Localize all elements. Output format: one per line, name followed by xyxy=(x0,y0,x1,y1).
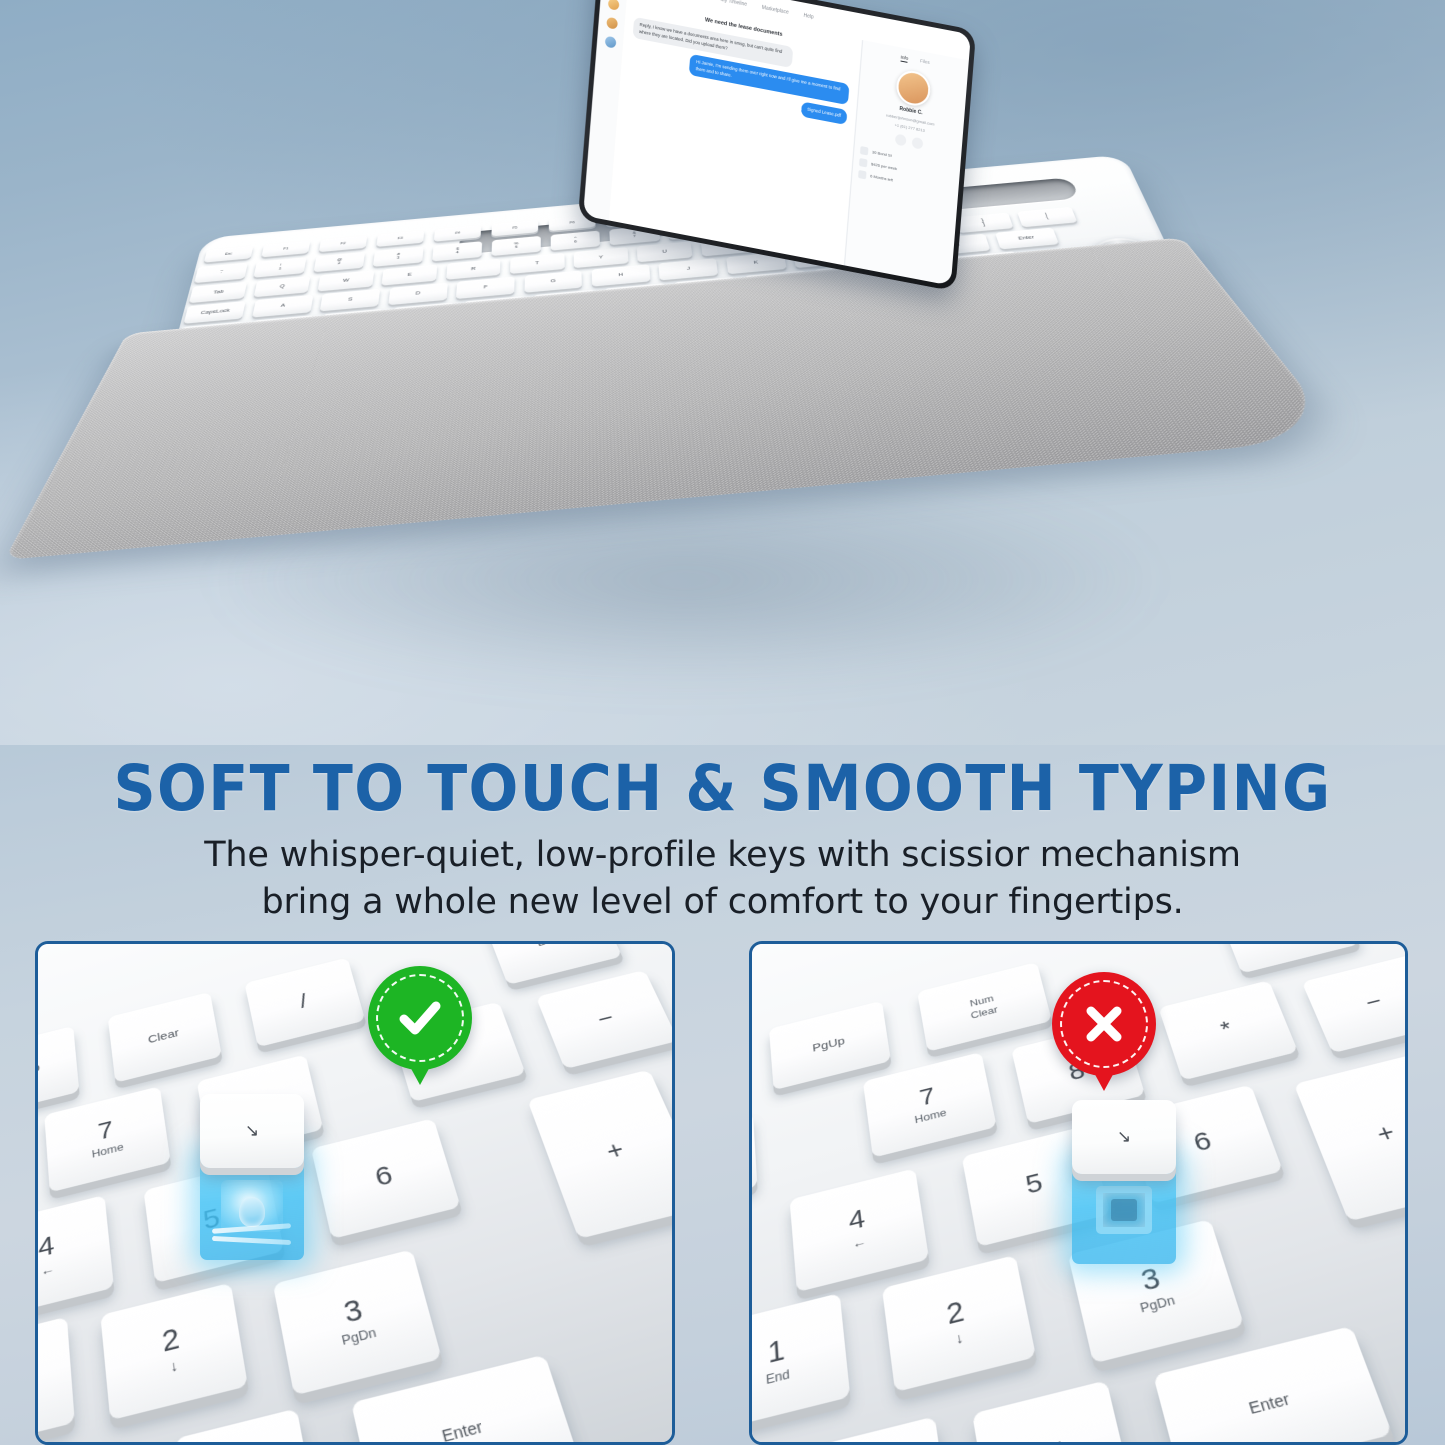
avatar[interactable] xyxy=(606,17,618,30)
keyboard-key[interactable]: F5 xyxy=(491,220,538,237)
keyboard-key[interactable]: ~ ` xyxy=(194,262,247,283)
calendar-icon xyxy=(858,170,867,179)
key-7-home[interactable]: 7 Home xyxy=(863,1052,997,1157)
page-subtitle: The whisper-quiet, low-profile keys with… xyxy=(0,832,1445,926)
key-pgup[interactable]: PgUp xyxy=(38,1026,80,1118)
subtitle-line-2: bring a whole new level of comfort to yo… xyxy=(0,879,1445,926)
keyboard-key[interactable]: F xyxy=(456,277,515,299)
keyboard-key[interactable]: F1 xyxy=(261,240,311,257)
key-del[interactable]: Del xyxy=(972,1381,1133,1442)
keyboard-key[interactable]: G xyxy=(524,271,582,293)
keyboard-key[interactable]: % 5 xyxy=(491,236,541,257)
key-clear[interactable]: Clear xyxy=(108,992,223,1083)
contact-actions xyxy=(894,133,923,149)
key-6[interactable]: 6 xyxy=(312,1118,462,1239)
key-back[interactable]: ← Back xyxy=(1219,944,1358,973)
keyboard-key[interactable]: F2 xyxy=(318,235,367,252)
keyboard-key[interactable]: Q xyxy=(253,276,310,298)
phone-contact-panel: Info Files Robbie C. robbertjohnson@gmai… xyxy=(844,40,969,286)
key-2[interactable]: 2 ↓ xyxy=(881,1255,1035,1392)
phone-nav-item[interactable]: Marketplace xyxy=(762,5,789,16)
phone-nav-item[interactable]: Help xyxy=(803,13,814,21)
detail-text: 6 Months left xyxy=(870,173,893,183)
key-7-home[interactable]: 7 Home xyxy=(45,1086,171,1193)
keyboard-key[interactable]: Tab xyxy=(189,281,247,303)
keyboard-key[interactable]: E xyxy=(382,264,438,286)
phone-nav-item[interactable]: My Timeline xyxy=(720,0,747,8)
keyboard-key[interactable]: R xyxy=(446,258,501,279)
lifted-keycap[interactable]: ↘ xyxy=(200,1094,304,1168)
money-icon xyxy=(859,158,868,167)
keyboard-key[interactable]: ! 1 xyxy=(254,257,307,278)
keyboard-key[interactable]: Enter xyxy=(995,228,1059,250)
key-plus[interactable]: + xyxy=(1294,1053,1405,1221)
keyboard-key[interactable]: F3 xyxy=(376,230,424,247)
keyboard-key[interactable]: | \ xyxy=(1017,207,1077,228)
contact-detail-list: 30 Bond St $426 per week 6 Months left xyxy=(858,146,954,196)
keyboard-closeup-good: PgUp Clear / Back 7 Home 8 * − 4 ← 5 xyxy=(38,944,672,1442)
comparison-panel-scissor: PgUp Clear / Back 7 Home 8 * − 4 ← 5 xyxy=(35,941,675,1445)
keyboard-closeup-bad: PgUp Num Clear ← Back PgDn 7 Home 8 * − … xyxy=(752,944,1405,1442)
key-3-pgdn[interactable]: 3 PgDn xyxy=(273,1249,442,1395)
keyboard-key[interactable]: W xyxy=(317,270,374,292)
scissor-arm xyxy=(212,1236,291,1245)
detail-text: $426 per week xyxy=(871,162,897,172)
home-icon xyxy=(860,146,869,155)
key-plus[interactable]: + xyxy=(527,1070,672,1239)
key-slash[interactable]: / xyxy=(245,958,366,1047)
cross-icon xyxy=(1052,972,1156,1076)
keyboard-key[interactable]: D xyxy=(388,283,447,305)
key-period[interactable]: . xyxy=(175,1409,319,1442)
detail-text: 30 Bond St xyxy=(872,150,892,159)
keyboard-key[interactable]: $ 4 xyxy=(432,241,483,262)
keyboard-key[interactable]: F4 xyxy=(434,225,482,242)
keyboard-key[interactable]: H xyxy=(592,264,651,286)
membrane-plunger-hole xyxy=(1111,1199,1137,1221)
chat-bubble-attachment[interactable]: Signed Lease.pdf xyxy=(801,102,848,125)
keyboard-key[interactable]: @ 2 xyxy=(313,252,365,273)
key-minus[interactable]: − xyxy=(536,970,672,1070)
key-num-clear[interactable]: Num Clear xyxy=(916,963,1051,1052)
key-1-end[interactable]: 1 End xyxy=(38,1317,76,1442)
rubber-dome xyxy=(239,1197,265,1227)
key-ins[interactable]: Ins xyxy=(783,1417,952,1442)
key-1-end[interactable]: 1 End xyxy=(752,1293,850,1432)
subtitle-line-1: The whisper-quiet, low-profile keys with… xyxy=(0,832,1445,879)
key-minus[interactable]: − xyxy=(1302,954,1405,1053)
keyboard-key[interactable]: S xyxy=(320,289,380,311)
phone-chat-thread: We need the lease documents Reply, I kno… xyxy=(609,0,862,265)
mail-icon[interactable] xyxy=(911,137,923,150)
hero-product-photo: EscF1F2F3F4F5F6F7F8F9F10F11F12~ `! 1@ 2#… xyxy=(0,0,1445,745)
key-2[interactable]: 2 ↓ xyxy=(101,1283,249,1422)
lifted-keycap[interactable]: ↘ xyxy=(1072,1100,1176,1174)
keyboard-key[interactable]: U xyxy=(637,241,693,262)
keyboard-key[interactable]: # 3 xyxy=(373,246,424,267)
key-pgup[interactable]: PgUp xyxy=(769,1001,891,1090)
scissor-switch xyxy=(200,1152,304,1260)
checkmark-icon xyxy=(368,966,472,1070)
key-4[interactable]: 4 ← xyxy=(789,1168,928,1292)
keyboard-key[interactable]: ^ 6 xyxy=(551,230,601,250)
keyboard-key[interactable]: } ] xyxy=(954,212,1013,233)
comparison-panel-membrane: PgUp Num Clear ← Back PgDn 7 Home 8 * − … xyxy=(749,941,1408,1445)
keyboard-key[interactable]: T xyxy=(510,253,564,274)
keyboard-key[interactable]: J xyxy=(659,258,719,280)
avatar[interactable] xyxy=(604,36,616,49)
key-enter[interactable]: Enter xyxy=(1153,1327,1392,1442)
keyboard-key[interactable]: Esc xyxy=(203,246,253,263)
keyboard-key[interactable]: A xyxy=(252,295,313,318)
avatar[interactable] xyxy=(607,0,619,11)
key-asterisk[interactable]: * xyxy=(1158,981,1298,1081)
closeup-key-plate: PgUp Clear / Back 7 Home 8 * − 4 ← 5 xyxy=(38,944,672,1442)
page-headline: SOFT TO TOUCH & SMOOTH TYPING xyxy=(51,752,1395,825)
tab-files[interactable]: Files xyxy=(920,58,930,67)
phone-call-icon[interactable] xyxy=(894,133,906,146)
contact-avatar xyxy=(895,68,931,108)
keyboard-key[interactable]: Y xyxy=(574,247,629,268)
key-pgdn[interactable]: PgDn xyxy=(752,1114,757,1216)
key-back[interactable]: Back xyxy=(484,944,622,985)
keyboard-key[interactable]: CapsLock xyxy=(184,301,246,324)
tab-info[interactable]: Info xyxy=(900,55,908,63)
key-4[interactable]: 4 ← xyxy=(38,1195,114,1320)
